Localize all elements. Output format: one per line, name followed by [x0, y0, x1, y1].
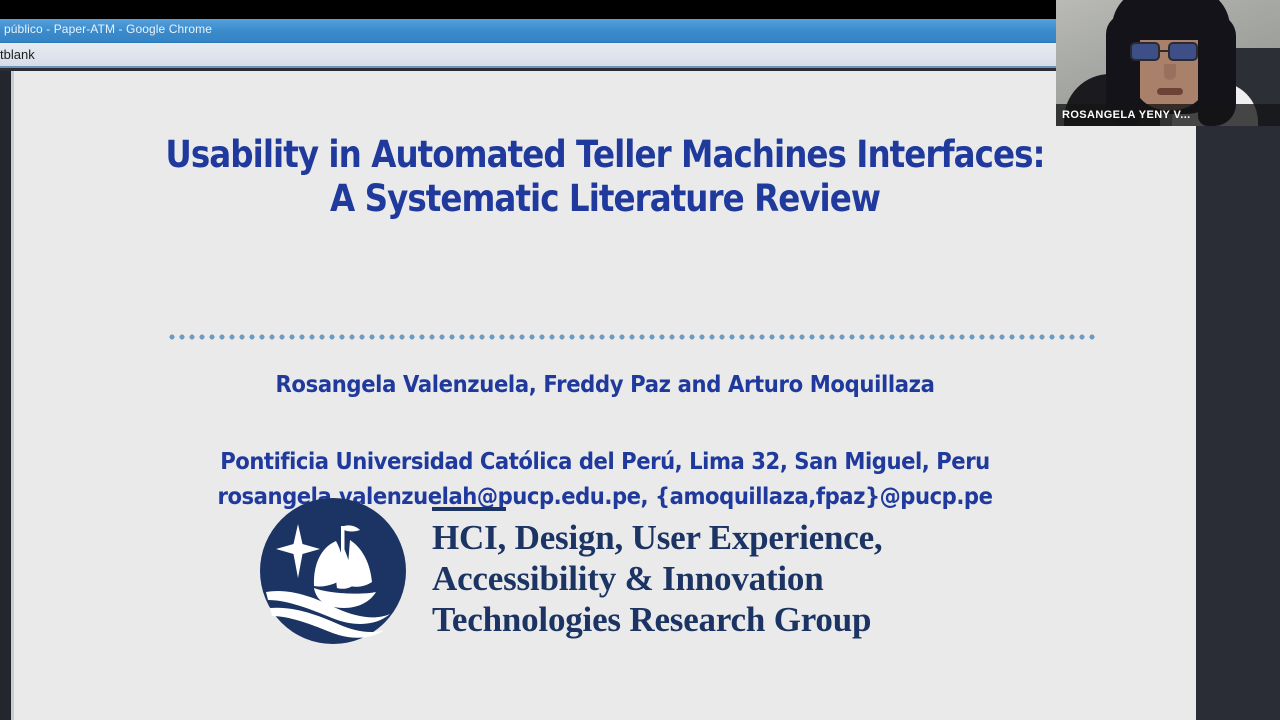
slide-authors: Rosangela Valenzuela, Freddy Paz and Art… — [61, 372, 1148, 398]
webcam-eyeglass-bridge — [1160, 50, 1168, 52]
left-dark-gutter — [0, 71, 11, 720]
webcam-video-tile[interactable]: ROSANGELA YENY V... — [1056, 0, 1280, 126]
logo-line-1: HCI, Design, User Experience, — [432, 517, 882, 558]
slide-title-line-1: Usability in Automated Teller Machines I… — [85, 133, 1125, 177]
slide-title-line-2: A Systematic Literature Review — [85, 177, 1125, 221]
slide-title: Usability in Automated Teller Machines I… — [85, 133, 1125, 221]
logo-line-3: Technologies Research Group — [432, 599, 882, 640]
window-title: público - Paper-ATM - Google Chrome — [4, 22, 212, 36]
webcam-eyeglass-left — [1130, 42, 1160, 61]
webcam-eyeglass-right — [1168, 42, 1198, 61]
screen-root: público - Paper-ATM - Google Chrome tbla… — [0, 0, 1280, 720]
desktop-black-strip — [0, 0, 1060, 19]
webcam-name-bar: ROSANGELA YENY V... — [1056, 104, 1280, 126]
research-group-logo: HCI, Design, User Experience, Accessibil… — [258, 491, 998, 651]
dotted-divider — [167, 334, 1095, 340]
address-bar-text[interactable]: tblank — [0, 47, 35, 62]
logo-top-rule — [432, 507, 506, 511]
affiliation-line-1: Pontificia Universidad Católica del Perú… — [61, 445, 1148, 480]
caravel-ship-logo-icon — [258, 496, 408, 646]
webcam-participant-name: ROSANGELA YENY V... — [1056, 109, 1191, 121]
logo-text-block: HCI, Design, User Experience, Accessibil… — [432, 503, 882, 640]
webcam-mouth — [1157, 88, 1183, 95]
webcam-nose — [1164, 64, 1176, 80]
presentation-slide: Usability in Automated Teller Machines I… — [14, 71, 1196, 720]
logo-line-2: Accessibility & Innovation — [432, 558, 882, 599]
right-dark-gutter — [1196, 125, 1280, 720]
